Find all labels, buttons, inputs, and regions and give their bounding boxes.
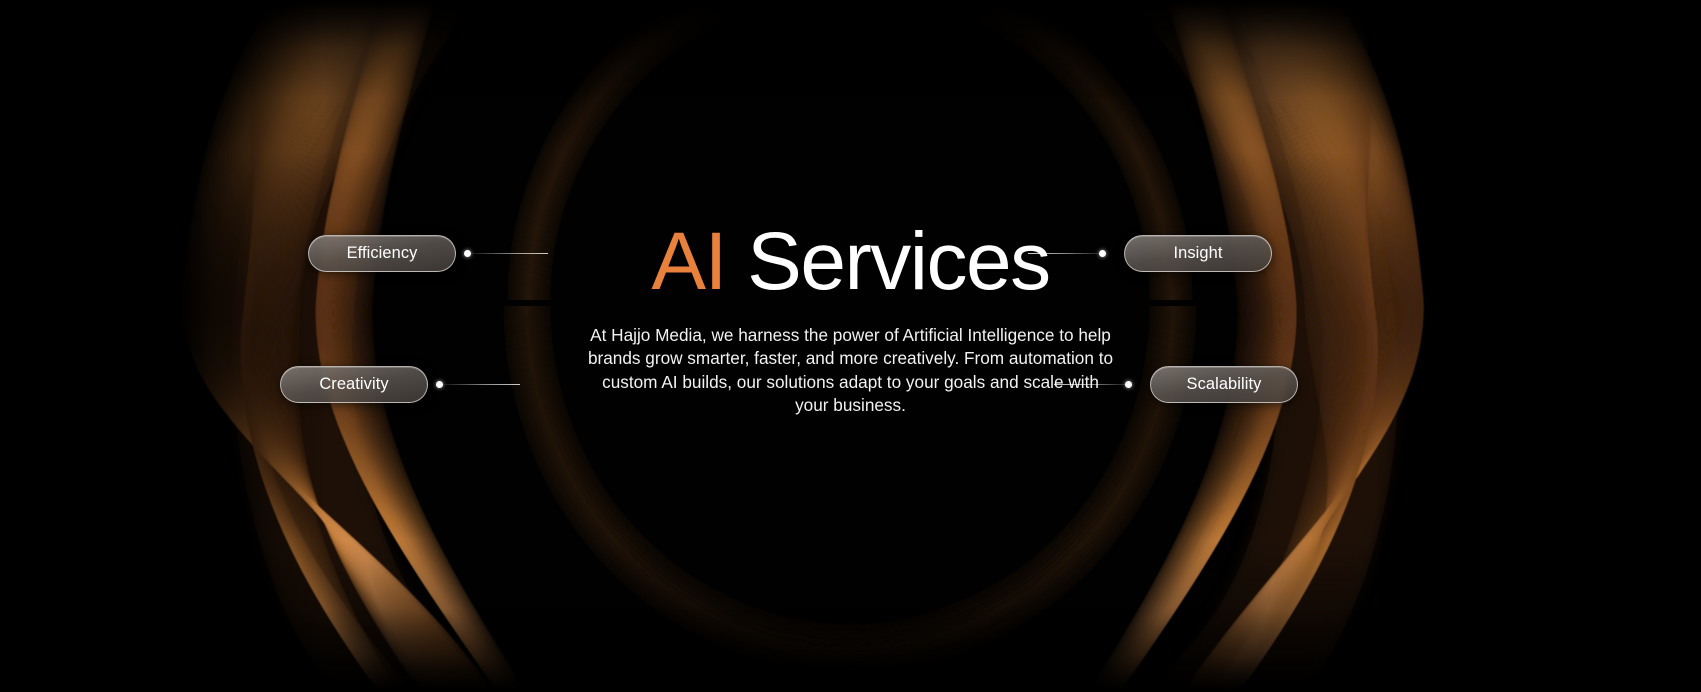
tag-insight[interactable]: Insight bbox=[1124, 235, 1272, 272]
tag-efficiency[interactable]: Efficiency bbox=[308, 235, 456, 272]
tag-scalability[interactable]: Scalability bbox=[1150, 366, 1298, 403]
hero-section: AI Services At Hajjo Media, we harness t… bbox=[0, 0, 1701, 692]
tag-creativity[interactable]: Creativity bbox=[280, 366, 428, 403]
connector-line-creativity bbox=[442, 384, 520, 385]
connector-dot-insight bbox=[1099, 250, 1106, 257]
connector-dot-creativity bbox=[436, 381, 443, 388]
page-title: AI Services bbox=[0, 218, 1701, 306]
connector-line-scalability bbox=[1054, 384, 1132, 385]
connector-dot-scalability bbox=[1125, 381, 1132, 388]
connector-dot-efficiency bbox=[464, 250, 471, 257]
page-title-accent: AI bbox=[651, 216, 725, 307]
page-title-rest: Services bbox=[726, 216, 1050, 307]
connector-line-efficiency bbox=[470, 253, 548, 254]
tag-insight-label: Insight bbox=[1174, 244, 1223, 263]
tag-scalability-label: Scalability bbox=[1187, 375, 1262, 394]
hero-content: AI Services At Hajjo Media, we harness t… bbox=[0, 0, 1701, 692]
hero-description: At Hajjo Media, we harness the power of … bbox=[586, 324, 1116, 418]
tag-efficiency-label: Efficiency bbox=[347, 244, 418, 263]
tag-creativity-label: Creativity bbox=[319, 375, 388, 394]
connector-line-insight bbox=[1028, 253, 1106, 254]
